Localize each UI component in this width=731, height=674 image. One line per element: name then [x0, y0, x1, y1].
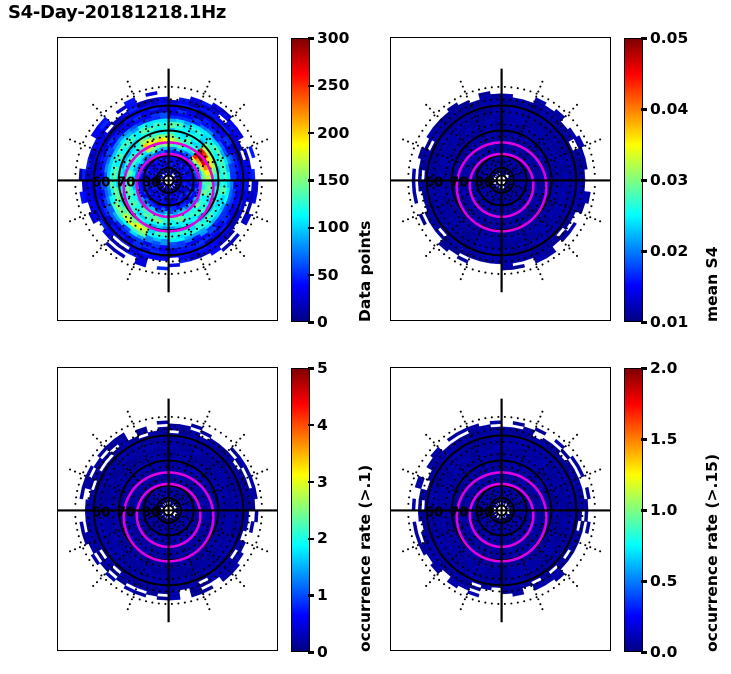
tick-mark-icon	[308, 481, 314, 483]
colorbar-tick-label: 0.04	[650, 100, 688, 118]
colorbar-tick-label: 0.01	[650, 313, 688, 331]
panel-occurrence-rate-015-axes: 607080	[390, 367, 611, 651]
panel-occurrence-rate-015-colorbar-label: occurrence rate (>.15)	[703, 454, 721, 652]
colorbar-tick-label: 5	[317, 359, 328, 377]
panel-occurrence-rate-015-colorbar-tick: 2.0	[641, 359, 677, 377]
panel-occurrence-rate-01-colorbar-tick: 3	[308, 473, 328, 491]
panel-occurrence-rate-015-colorbar-tick: 1.0	[641, 501, 677, 519]
colorbar-tick-label: 50	[317, 266, 339, 284]
colorbar-tick-label: 100	[317, 218, 349, 236]
tick-mark-icon	[308, 538, 314, 540]
svg-text:70: 70	[450, 505, 469, 520]
tick-mark-icon	[641, 250, 647, 252]
svg-text:60: 60	[92, 505, 111, 520]
panel-data-points-colorbar-tick: 300	[308, 29, 349, 47]
panel-mean-s4-colorbar-tick: 0.02	[641, 242, 688, 260]
colorbar-tick-label: 2.0	[650, 359, 677, 377]
panel-occurrence-rate-01-colorbar-label: occurrence rate (>.1)	[356, 465, 374, 652]
tick-mark-icon	[308, 321, 314, 323]
tick-mark-icon	[308, 37, 314, 39]
latitude-tick-labels: 607080	[425, 175, 493, 190]
colorbar-tick-label: 0.05	[650, 29, 688, 47]
tick-mark-icon	[641, 321, 647, 323]
panel-mean-s4-colorbar-tick: 0.04	[641, 100, 688, 118]
svg-text:70: 70	[450, 175, 469, 190]
page-title: S4-Day-20181218.1Hz	[8, 2, 226, 23]
tick-mark-icon	[641, 108, 647, 110]
tick-mark-icon	[308, 179, 314, 181]
panel-mean-s4-colorbar-tick: 0.01	[641, 313, 688, 331]
colorbar-tick-label: 150	[317, 171, 349, 189]
tick-mark-icon	[308, 424, 314, 426]
svg-text:70: 70	[117, 505, 136, 520]
panel-occurrence-rate-01-polar-plot: 607080	[58, 368, 277, 650]
panel-occurrence-rate-01-axes: 607080	[57, 367, 278, 651]
panel-data-points-polar-plot: 607080	[58, 38, 277, 320]
tick-mark-icon	[308, 651, 314, 653]
colorbar-tick-label: 0	[317, 313, 328, 331]
colorbar-tick-label: 4	[317, 416, 328, 434]
svg-text:70: 70	[117, 175, 136, 190]
panel-data-points-colorbar-tick: 50	[308, 266, 339, 284]
panel-occurrence-rate-01-colorbar-tick: 4	[308, 416, 328, 434]
panel-occurrence-rate-01-colorbar-tick: 1	[308, 586, 328, 604]
svg-text:80: 80	[142, 505, 161, 520]
panel-data-points-colorbar-label: Data points	[356, 221, 374, 322]
tick-mark-icon	[308, 132, 314, 134]
panel-data-points-colorbar-tick: 200	[308, 124, 349, 142]
tick-mark-icon	[641, 438, 647, 440]
panel-data-points-colorbar-tick: 0	[308, 313, 328, 331]
svg-text:80: 80	[142, 175, 161, 190]
svg-text:80: 80	[475, 175, 494, 190]
svg-text:60: 60	[425, 175, 444, 190]
tick-mark-icon	[308, 85, 314, 87]
tick-mark-icon	[641, 37, 647, 39]
colorbar-tick-label: 1.0	[650, 501, 677, 519]
panel-mean-s4-colorbar-label: mean S4	[703, 246, 721, 322]
colorbar-tick-label: 0	[317, 643, 328, 661]
colorbar-tick-label: 250	[317, 76, 349, 94]
panel-occurrence-rate-01-colorbar-tick: 5	[308, 359, 328, 377]
panel-mean-s4-colorbar-tick: 0.03	[641, 171, 688, 189]
panel-occurrence-rate-01-colorbar-tick: 0	[308, 643, 328, 661]
tick-mark-icon	[308, 274, 314, 276]
latitude-tick-labels: 607080	[92, 175, 160, 190]
panel-mean-s4-colorbar-tick: 0.05	[641, 29, 688, 47]
panel-occurrence-rate-01-colorbar	[291, 368, 310, 652]
panel-data-points-colorbar-tick: 100	[308, 218, 349, 236]
svg-text:60: 60	[425, 505, 444, 520]
latitude-tick-labels: 607080	[92, 505, 160, 520]
colorbar-tick-label: 0.5	[650, 572, 677, 590]
latitude-tick-labels: 607080	[425, 505, 493, 520]
panel-occurrence-rate-015-colorbar-tick: 0.0	[641, 643, 677, 661]
colorbar-tick-label: 300	[317, 29, 349, 47]
colorbar-tick-label: 3	[317, 473, 328, 491]
panel-occurrence-rate-015-polar-plot: 607080	[391, 368, 610, 650]
colorbar-tick-label: 2	[317, 529, 328, 547]
panel-occurrence-rate-015-colorbar-tick: 0.5	[641, 572, 677, 590]
tick-mark-icon	[641, 651, 647, 653]
svg-text:80: 80	[475, 505, 494, 520]
tick-mark-icon	[641, 179, 647, 181]
colorbar-tick-label: 0.03	[650, 171, 688, 189]
panel-data-points-axes: 607080	[57, 37, 278, 321]
colorbar-tick-label: 1.5	[650, 430, 677, 448]
tick-mark-icon	[641, 580, 647, 582]
tick-mark-icon	[641, 509, 647, 511]
colorbar-tick-label: 0.02	[650, 242, 688, 260]
panel-mean-s4-polar-plot: 607080	[391, 38, 610, 320]
svg-text:60: 60	[92, 175, 111, 190]
tick-mark-icon	[641, 367, 647, 369]
tick-mark-icon	[308, 227, 314, 229]
panel-occurrence-rate-015-colorbar-tick: 1.5	[641, 430, 677, 448]
panel-data-points-colorbar-tick: 250	[308, 76, 349, 94]
tick-mark-icon	[308, 594, 314, 596]
colorbar-tick-label: 200	[317, 124, 349, 142]
colorbar-tick-label: 0.0	[650, 643, 677, 661]
figure-canvas: S4-Day-20181218.1Hz 60708005010015020025…	[0, 0, 731, 674]
colorbar-tick-label: 1	[317, 586, 328, 604]
panel-occurrence-rate-01-colorbar-tick: 2	[308, 529, 328, 547]
panel-data-points-colorbar-tick: 150	[308, 171, 349, 189]
panel-mean-s4-axes: 607080	[390, 37, 611, 321]
tick-mark-icon	[308, 367, 314, 369]
